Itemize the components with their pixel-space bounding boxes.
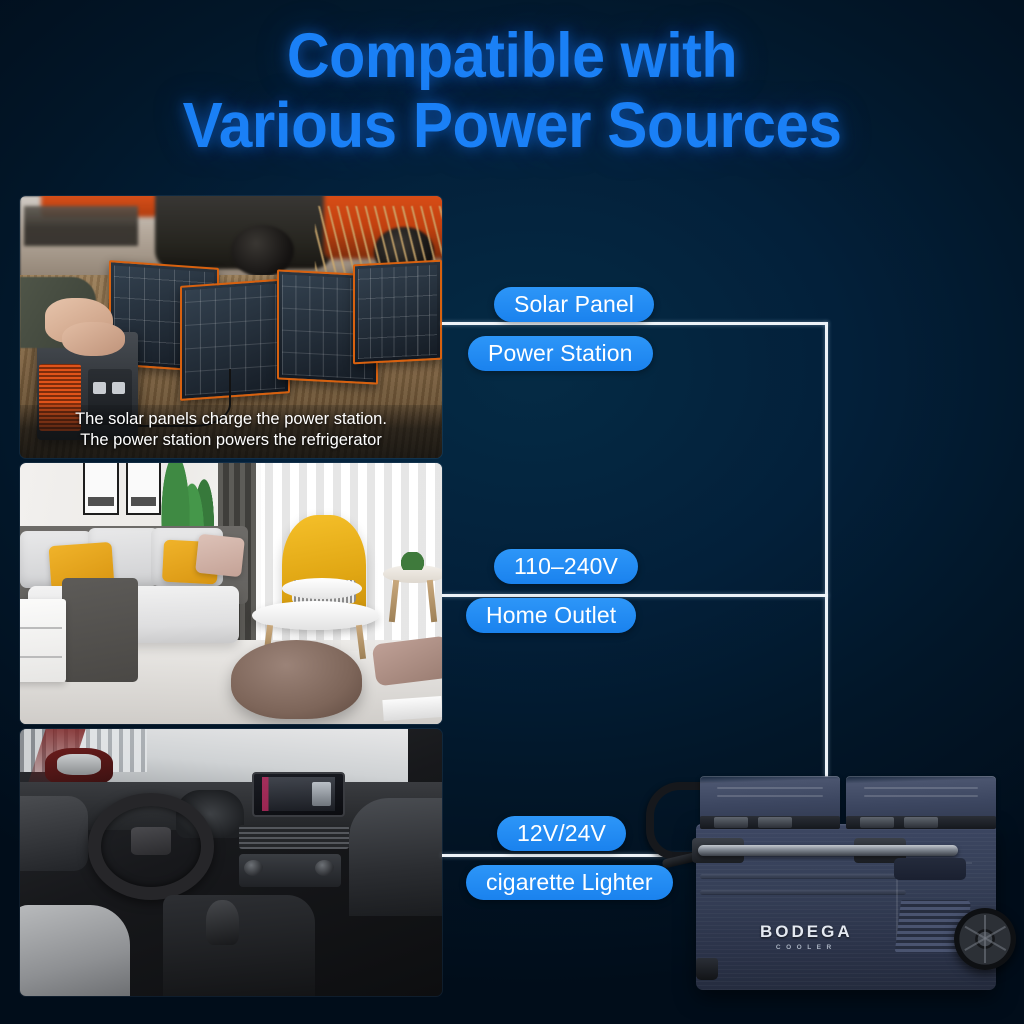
pill-home-outlet[interactable]: Home Outlet: [466, 598, 636, 633]
brand-subtitle: COOLER: [760, 944, 853, 951]
infotainment-screen: [252, 772, 345, 817]
potted-plant: [400, 552, 425, 570]
caption-line-1: The solar panels charge the power statio…: [20, 409, 442, 430]
wall-art-1: [83, 463, 119, 515]
gear-shifter: [206, 900, 240, 945]
center-console: [163, 895, 315, 996]
pill-power-station[interactable]: Power Station: [468, 336, 653, 371]
cooler-lid-right: [846, 776, 996, 820]
solar-panel-4: [353, 259, 442, 363]
brand-name: BODEGA: [760, 922, 853, 942]
infographic-canvas: Compatible with Various Power Sources: [0, 0, 1024, 1024]
person-hand-lower: [62, 322, 125, 356]
photo-solar-camping: The solar panels charge the power statio…: [20, 196, 442, 458]
control-recess: [894, 858, 966, 880]
passenger-seat: [20, 905, 130, 996]
pill-voltage-ac[interactable]: 110–240V: [494, 549, 638, 584]
title-line-2: Various Power Sources: [31, 94, 994, 157]
chrome-rail: [698, 845, 958, 856]
body-groove-2: [700, 890, 906, 895]
photo-car-interior: [20, 729, 442, 996]
lid-latch-1: [714, 817, 748, 828]
sofa-arm: [62, 578, 138, 682]
wall-art-2: [126, 463, 162, 515]
car-interior-illustration: [20, 729, 442, 996]
lid-latch-4: [904, 817, 938, 828]
cooler-foot: [696, 958, 718, 980]
connector-line-solar-horizontal: [442, 322, 828, 325]
photo-caption: The solar panels charge the power statio…: [20, 405, 442, 458]
door-panel: [20, 796, 88, 871]
product-portable-refrigerator: BODEGA COOLER: [648, 770, 1024, 1010]
control-knob-left: [244, 860, 263, 876]
side-mirror: [45, 748, 113, 785]
ottoman-pouf: [231, 640, 362, 718]
floor-book: [382, 696, 442, 721]
pink-pillow: [195, 534, 245, 578]
page-title: Compatible with Various Power Sources: [0, 26, 1024, 156]
air-vents: [239, 825, 349, 849]
title-line-1: Compatible with: [31, 26, 994, 88]
pill-voltage-dc[interactable]: 12V/24V: [497, 816, 626, 851]
floor-pillow: [372, 636, 442, 687]
small-round-table: [282, 578, 362, 599]
caption-line-2: The power station powers the refrigerato…: [20, 430, 442, 451]
steering-wheel: [88, 793, 215, 900]
pill-solar-panel[interactable]: Solar Panel: [494, 287, 654, 322]
living-room-illustration: [20, 463, 442, 724]
camp-table: [24, 206, 138, 245]
brand-logo: BODEGA COOLER: [760, 922, 853, 951]
photo-living-room: [20, 463, 442, 724]
cooler-lid-left: [700, 776, 840, 820]
body-groove-1: [700, 874, 906, 879]
connector-line-vertical: [825, 322, 828, 777]
passenger-dashboard: [349, 798, 442, 915]
pill-cigarette-lighter[interactable]: cigarette Lighter: [466, 865, 673, 900]
side-cabinet: [20, 599, 66, 683]
lid-latch-3: [860, 817, 894, 828]
cooler-wheel: [954, 908, 1016, 970]
connector-line-home-horizontal: [442, 594, 828, 597]
lid-latch-2: [758, 817, 792, 828]
